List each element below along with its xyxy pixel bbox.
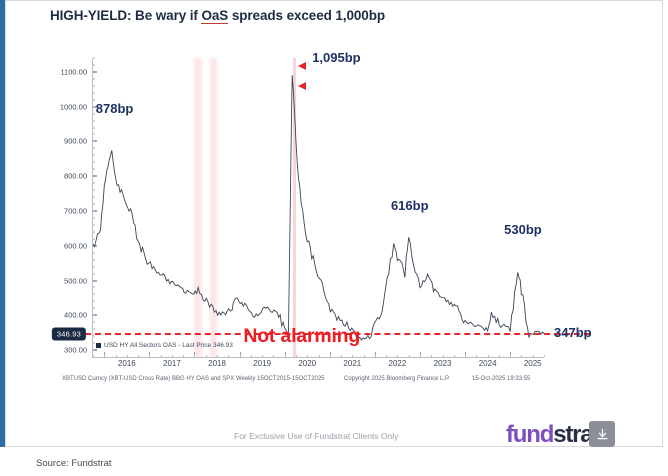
page-title-prefix: HIGH-YIELD: Be wary if (50, 8, 201, 23)
y-axis-tick-label: 300.00 (64, 346, 93, 355)
legend-swatch-icon (96, 343, 101, 348)
x-axis-tick-label: 2018 (208, 359, 226, 368)
page-title: HIGH-YIELD: Be wary if OaS spreads excee… (50, 8, 610, 23)
annotation-not-alarming: Not alarming (243, 325, 360, 348)
x-axis-tick-label: 2023 (434, 359, 452, 368)
exclusive-use-note: For Exclusive Use of Fundstrat Clients O… (234, 431, 398, 441)
x-axis-tick-label: 2021 (343, 359, 361, 368)
x-axis-tick-label: 2025 (524, 359, 542, 368)
last-value-badge: 346.93 (52, 327, 86, 340)
logo-part-fund: fund (506, 421, 553, 448)
bloomberg-footer-center: Copyright 2025 Bloomberg Finance L.P. (344, 376, 450, 382)
y-axis-tick-label: 1100.00 (60, 67, 93, 76)
chart-card: HIGH-YIELD: Be wary if OaS spreads excee… (5, 0, 663, 447)
y-axis-tick-label: 1000.00 (60, 102, 93, 111)
bloomberg-footer-left: XBTUSD Curncy (XBT-USD Cross Rate) BBG H… (62, 376, 325, 382)
annotation-530bp: 530bp (504, 222, 542, 237)
chart-plot-area: 300.00400.00500.00600.00700.00800.00900.… (92, 58, 544, 358)
download-icon[interactable] (589, 421, 615, 447)
bloomberg-footer-right: 15-Oct-2025 19:33:55 (472, 376, 530, 382)
x-axis-tick-label: 2022 (389, 359, 407, 368)
source-note: Source: Fundstrat (36, 458, 112, 469)
legend-label: USD HY All Sectors OAS - Last Price 346.… (104, 342, 233, 349)
annotation-arrow-icon (298, 62, 306, 70)
y-axis-tick-label: 500.00 (64, 276, 93, 285)
annotation-1095bp: 1,095bp (312, 50, 360, 65)
x-axis-tick-label: 2017 (163, 359, 181, 368)
page-title-underlined: OaS (201, 8, 228, 24)
x-axis-tick-label: 2016 (118, 359, 136, 368)
annotation-arrow-icon (298, 82, 306, 90)
page-title-suffix: spreads exceed 1,000bp (228, 8, 385, 23)
annotation-878bp: 878bp (96, 101, 134, 116)
y-axis-tick-label: 600.00 (64, 241, 93, 250)
annotation-347bp: 347bp (554, 325, 592, 340)
x-axis-minor-tick (544, 355, 545, 358)
x-axis-tick-label: 2024 (479, 359, 497, 368)
y-axis-tick-label: 700.00 (64, 206, 93, 215)
chart-legend: USD HY All Sectors OAS - Last Price 346.… (96, 342, 233, 349)
annotation-616bp: 616bp (391, 198, 429, 213)
y-axis-tick-label: 400.00 (64, 311, 93, 320)
y-axis-tick-label: 800.00 (64, 172, 93, 181)
x-axis-tick-label: 2019 (253, 359, 271, 368)
chart-series-line (93, 58, 544, 357)
x-axis-tick-label: 2020 (298, 359, 316, 368)
fundstrat-logo: fundstrat (506, 421, 599, 449)
y-axis-tick-label: 900.00 (64, 137, 93, 146)
